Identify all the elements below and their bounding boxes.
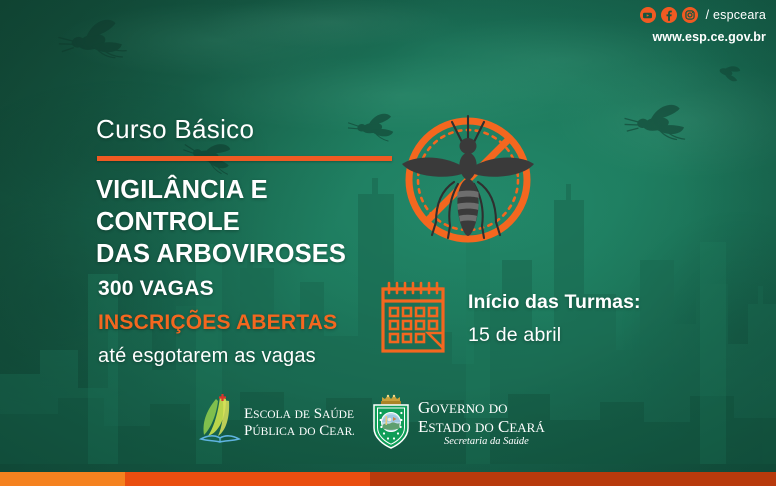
calendar-icon xyxy=(378,281,454,355)
title-line-1: VIGILÂNCIA E CONTROLE xyxy=(96,174,416,238)
schedule-block: Início das Turmas: 15 de abril xyxy=(468,293,641,345)
facebook-icon[interactable] xyxy=(661,7,677,23)
gov-logo-line-2: ESTADO DO CEARÁ xyxy=(418,417,545,436)
enrollment-status: INSCRIÇÕES ABERTAS xyxy=(98,312,337,333)
instagram-icon[interactable] xyxy=(682,7,698,23)
vacancies-count: 300 VAGAS xyxy=(98,278,337,299)
governo-estado-ceara-logo: GOVERNO DO ESTADO DO CEARÁ Secretaria da… xyxy=(368,392,596,450)
promotional-banner: / espceara www.esp.ce.gov.br Curso Básic… xyxy=(0,0,776,486)
bottom-color-bar xyxy=(0,472,776,486)
orange-divider-rule xyxy=(97,156,392,161)
course-kicker: Curso Básico xyxy=(96,114,254,145)
bottom-bar-segment-3 xyxy=(370,472,776,486)
youtube-icon[interactable] xyxy=(640,7,656,23)
website-url[interactable]: www.esp.ce.gov.br xyxy=(640,31,766,44)
enrollment-note: até esgotarem as vagas xyxy=(98,346,337,366)
bottom-bar-segment-1 xyxy=(0,472,125,486)
schedule-date: 15 de abril xyxy=(468,326,641,346)
social-handle: / espceara xyxy=(706,9,766,22)
bottom-bar-segment-2 xyxy=(125,472,370,486)
social-media-bar: / espceara www.esp.ce.gov.br xyxy=(640,6,766,44)
gov-logo-subtitle: Secretaria da Saúde xyxy=(444,436,529,447)
vacancies-block: 300 VAGAS INSCRIÇÕES ABERTAS até esgotar… xyxy=(98,278,337,366)
mosquito-prohibition-icon xyxy=(388,104,548,256)
escola-saude-publica-ceara-logo: ESCOLA DE SAÚDE PÚBLICA DO CEARÁ xyxy=(196,393,354,445)
coat-of-arms-crown xyxy=(381,395,401,405)
title-line-2: DAS ARBOVIROSES xyxy=(96,238,416,270)
schedule-label: Início das Turmas: xyxy=(468,293,641,313)
esp-logo-line-1: ESCOLA DE SAÚDE xyxy=(244,406,354,422)
gov-logo-line-1: GOVERNO DO xyxy=(418,398,507,417)
esp-logo-line-2: PÚBLICA DO CEARÁ xyxy=(244,423,354,439)
page-title: VIGILÂNCIA E CONTROLE DAS ARBOVIROSES xyxy=(96,174,416,270)
